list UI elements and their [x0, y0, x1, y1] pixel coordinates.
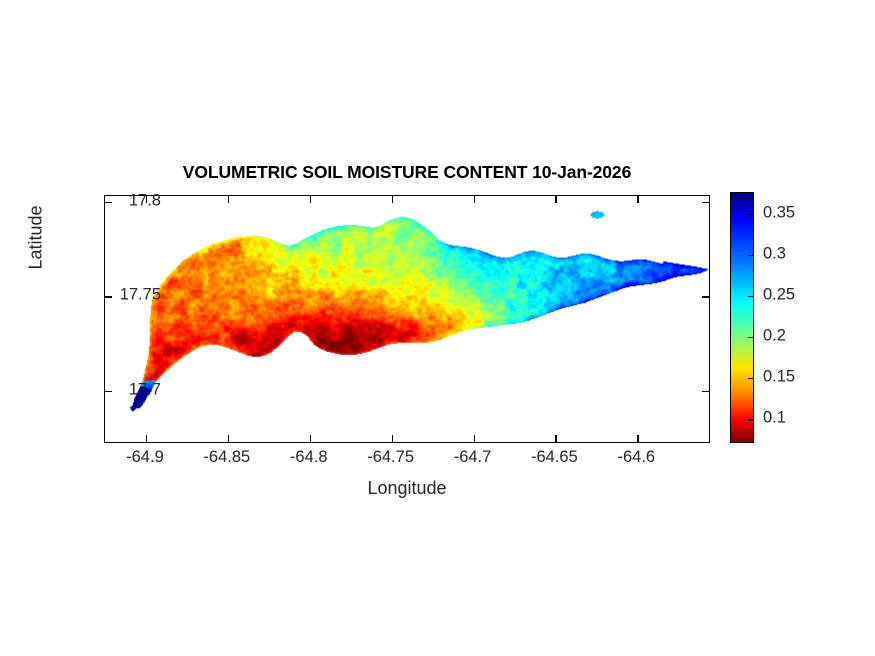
- x-axis-label: Longitude: [104, 478, 710, 499]
- figure-canvas: VOLUMETRIC SOIL MOISTURE CONTENT 10-Jan-…: [0, 0, 875, 656]
- colorbar-tick-5: [748, 214, 753, 215]
- y-tick-1: [105, 296, 112, 297]
- x-tick-label-2: -64.8: [290, 448, 328, 467]
- x-tick-1: [228, 196, 229, 203]
- colorbar-tick-3: [748, 296, 753, 297]
- y-tick-label-2: 17.8: [129, 191, 161, 210]
- y-tick-label-1: 17.75: [120, 286, 161, 305]
- x-tick-4: [474, 196, 475, 203]
- y-tick-0: [702, 391, 709, 392]
- x-tick-3: [392, 196, 393, 203]
- y-tick-2: [702, 202, 709, 203]
- x-tick-3: [392, 435, 393, 442]
- x-tick-2: [310, 435, 311, 442]
- page-title: VOLUMETRIC SOIL MOISTURE CONTENT 10-Jan-…: [104, 162, 710, 183]
- x-tick-label-4: -64.7: [454, 448, 492, 467]
- x-tick-2: [310, 196, 311, 203]
- x-tick-label-0: -64.9: [126, 448, 164, 467]
- colorbar-tick-0: [748, 419, 753, 420]
- colorbar-tick-label-3: 0.25: [763, 285, 795, 304]
- x-tick-5: [555, 196, 556, 203]
- y-axis-label: Latitude: [26, 178, 47, 298]
- colorbar: [730, 192, 754, 443]
- x-tick-label-6: -64.6: [617, 448, 655, 467]
- colorbar-tick-label-0: 0.1: [763, 409, 786, 428]
- y-tick-label-0: 17.7: [129, 380, 161, 399]
- x-tick-5: [555, 435, 556, 442]
- x-tick-6: [637, 196, 638, 203]
- colorbar-tick-1: [748, 378, 753, 379]
- soil-moisture-raster: [105, 196, 709, 442]
- colorbar-tick-2: [748, 337, 753, 338]
- y-tick-0: [105, 391, 112, 392]
- colorbar-tick-label-2: 0.2: [763, 327, 786, 346]
- x-tick-label-5: -64.65: [531, 448, 578, 467]
- x-tick-4: [474, 435, 475, 442]
- colorbar-tick-label-1: 0.15: [763, 368, 795, 387]
- x-tick-6: [637, 435, 638, 442]
- colorbar-tick-label-5: 0.35: [763, 203, 795, 222]
- x-tick-label-3: -64.75: [367, 448, 414, 467]
- x-tick-0: [146, 435, 147, 442]
- colorbar-tick-4: [748, 255, 753, 256]
- x-tick-1: [228, 435, 229, 442]
- y-tick-2: [105, 202, 112, 203]
- x-tick-label-1: -64.85: [203, 448, 250, 467]
- y-tick-1: [702, 296, 709, 297]
- colorbar-tick-label-4: 0.3: [763, 244, 786, 263]
- map-axes: [104, 195, 710, 443]
